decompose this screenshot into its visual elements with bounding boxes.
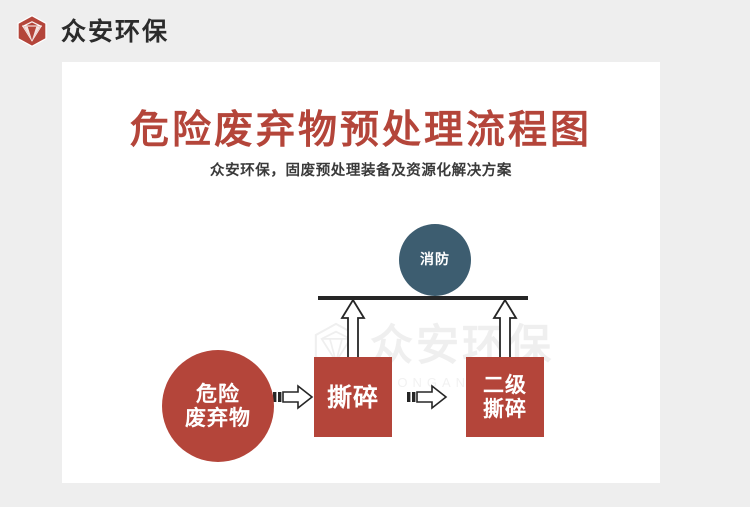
content-card: 危险废弃物预处理流程图 众安环保，固废预处理装备及资源化解决方案 众安环保 ZH…: [62, 62, 660, 483]
zhongan-diamond-logo-icon: [14, 13, 50, 49]
right-arrow-waste-to-shredding: [272, 383, 314, 411]
process-flow-diagram: 众安环保 ZHONGAN ECO 消防 危险 废弃物: [62, 62, 660, 483]
node-secondary-shredding-label: 二级 撕碎: [483, 373, 527, 422]
up-arrow-secondary-shredding-to-line: [492, 298, 518, 364]
node-hazardous-waste-label: 危险 废弃物: [185, 382, 251, 431]
brand-name: 众安环保: [61, 19, 169, 44]
node-fire-protection-label: 消防: [420, 252, 450, 268]
node-secondary-shredding[interactable]: 二级 撕碎: [466, 357, 544, 437]
up-arrow-shredding-to-line: [340, 298, 366, 364]
node-shredding[interactable]: 撕碎: [314, 357, 392, 437]
brand-bar: 众安环保: [0, 0, 750, 62]
node-hazardous-waste[interactable]: 危险 废弃物: [162, 350, 274, 462]
node-shredding-label: 撕碎: [327, 383, 379, 412]
node-fire-protection[interactable]: 消防: [399, 224, 471, 296]
right-arrow-shredding-to-secondary: [406, 383, 448, 411]
